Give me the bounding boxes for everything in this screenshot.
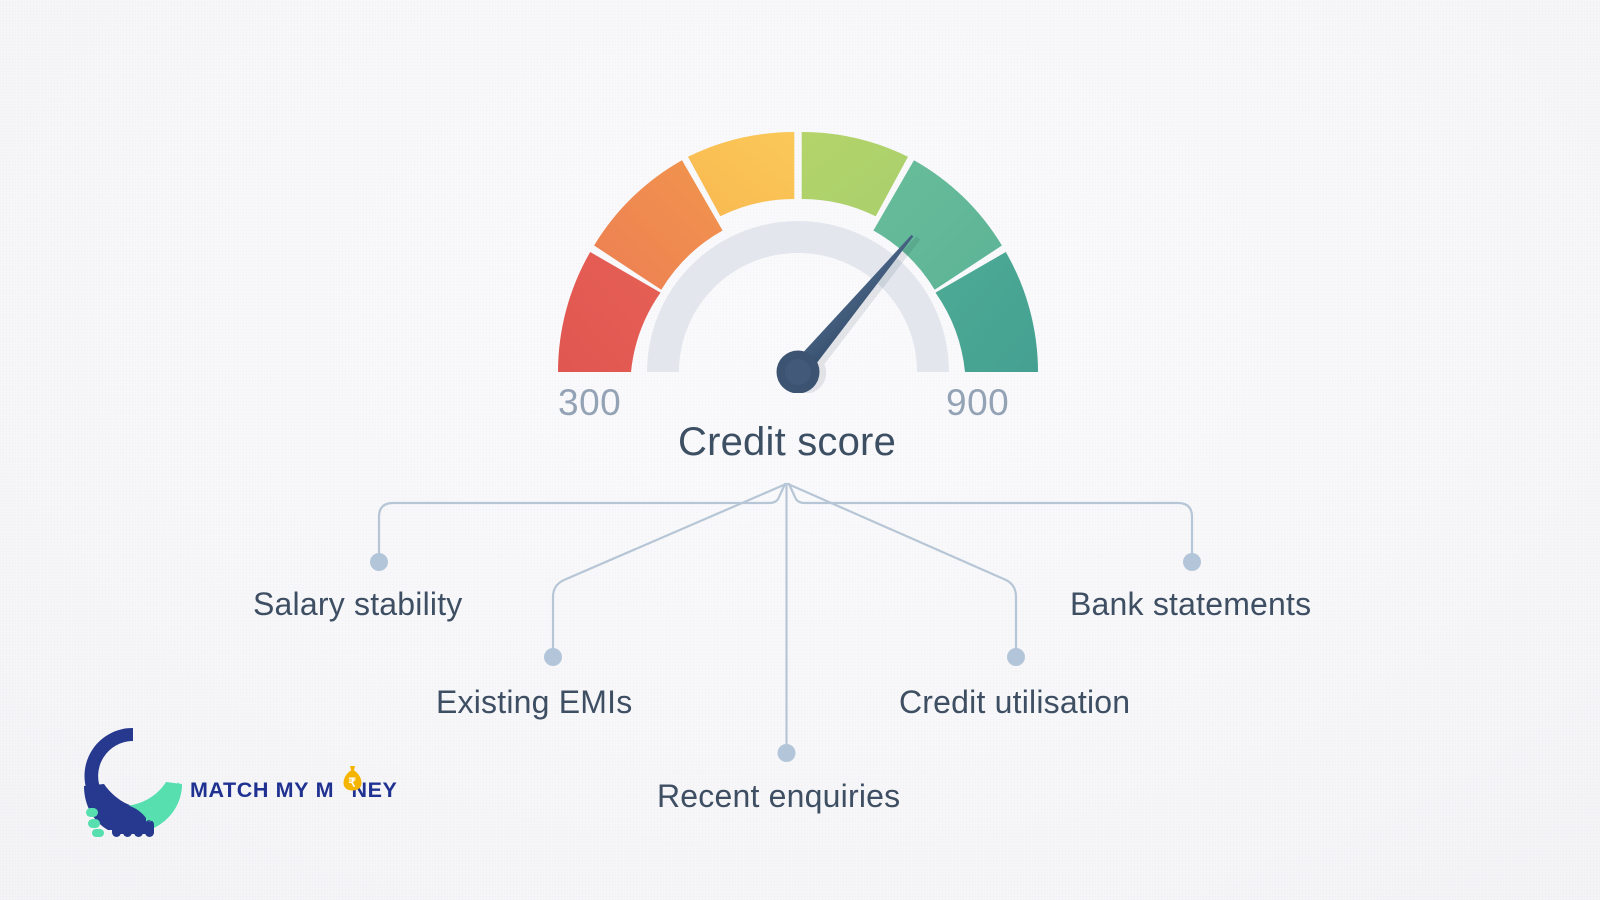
connector-credit-utilisation xyxy=(788,484,1016,650)
infographic-canvas: 300 900 Credit score Salary stability Ex… xyxy=(0,0,1600,900)
logo-word-match: MATCH xyxy=(190,778,269,803)
gauge-max-label: 900 xyxy=(946,382,1009,424)
gauge-title: Credit score xyxy=(0,420,1600,465)
brand-logo-text: MATCH MY MONEY₹ xyxy=(190,778,398,803)
connector-node xyxy=(370,553,388,571)
money-bag-icon: ₹ xyxy=(342,765,363,791)
factor-label-existing-emis: Existing EMIs xyxy=(436,684,632,721)
factor-label-recent-enquiries: Recent enquiries xyxy=(657,778,900,815)
connector-salary-stability xyxy=(379,484,785,556)
handshake-logo-icon xyxy=(78,722,188,837)
gauge-svg xyxy=(548,118,1048,393)
connector-existing-emis xyxy=(553,484,786,650)
credit-score-gauge xyxy=(548,118,1048,393)
logo-word-money: MONEY₹ xyxy=(316,778,398,803)
rupee-symbol: ₹ xyxy=(349,776,357,790)
connector-bank-statements xyxy=(789,484,1192,556)
gauge-min-label: 300 xyxy=(558,382,621,424)
brand-logo: MATCH MY MONEY₹ xyxy=(78,722,348,842)
gauge-needle-hub-inner xyxy=(785,359,811,385)
gauge-title-text: Credit score xyxy=(678,420,896,464)
connector-node xyxy=(1007,648,1025,666)
logo-word-my: MY xyxy=(276,778,309,803)
factor-label-salary-stability: Salary stability xyxy=(253,586,463,623)
logo-money-prefix: M xyxy=(316,778,335,802)
connector-node xyxy=(1183,553,1201,571)
factor-label-bank-statements: Bank statements xyxy=(1070,586,1311,623)
connector-node xyxy=(544,648,562,666)
factor-label-credit-utilisation: Credit utilisation xyxy=(899,684,1130,721)
connector-node xyxy=(778,744,796,762)
